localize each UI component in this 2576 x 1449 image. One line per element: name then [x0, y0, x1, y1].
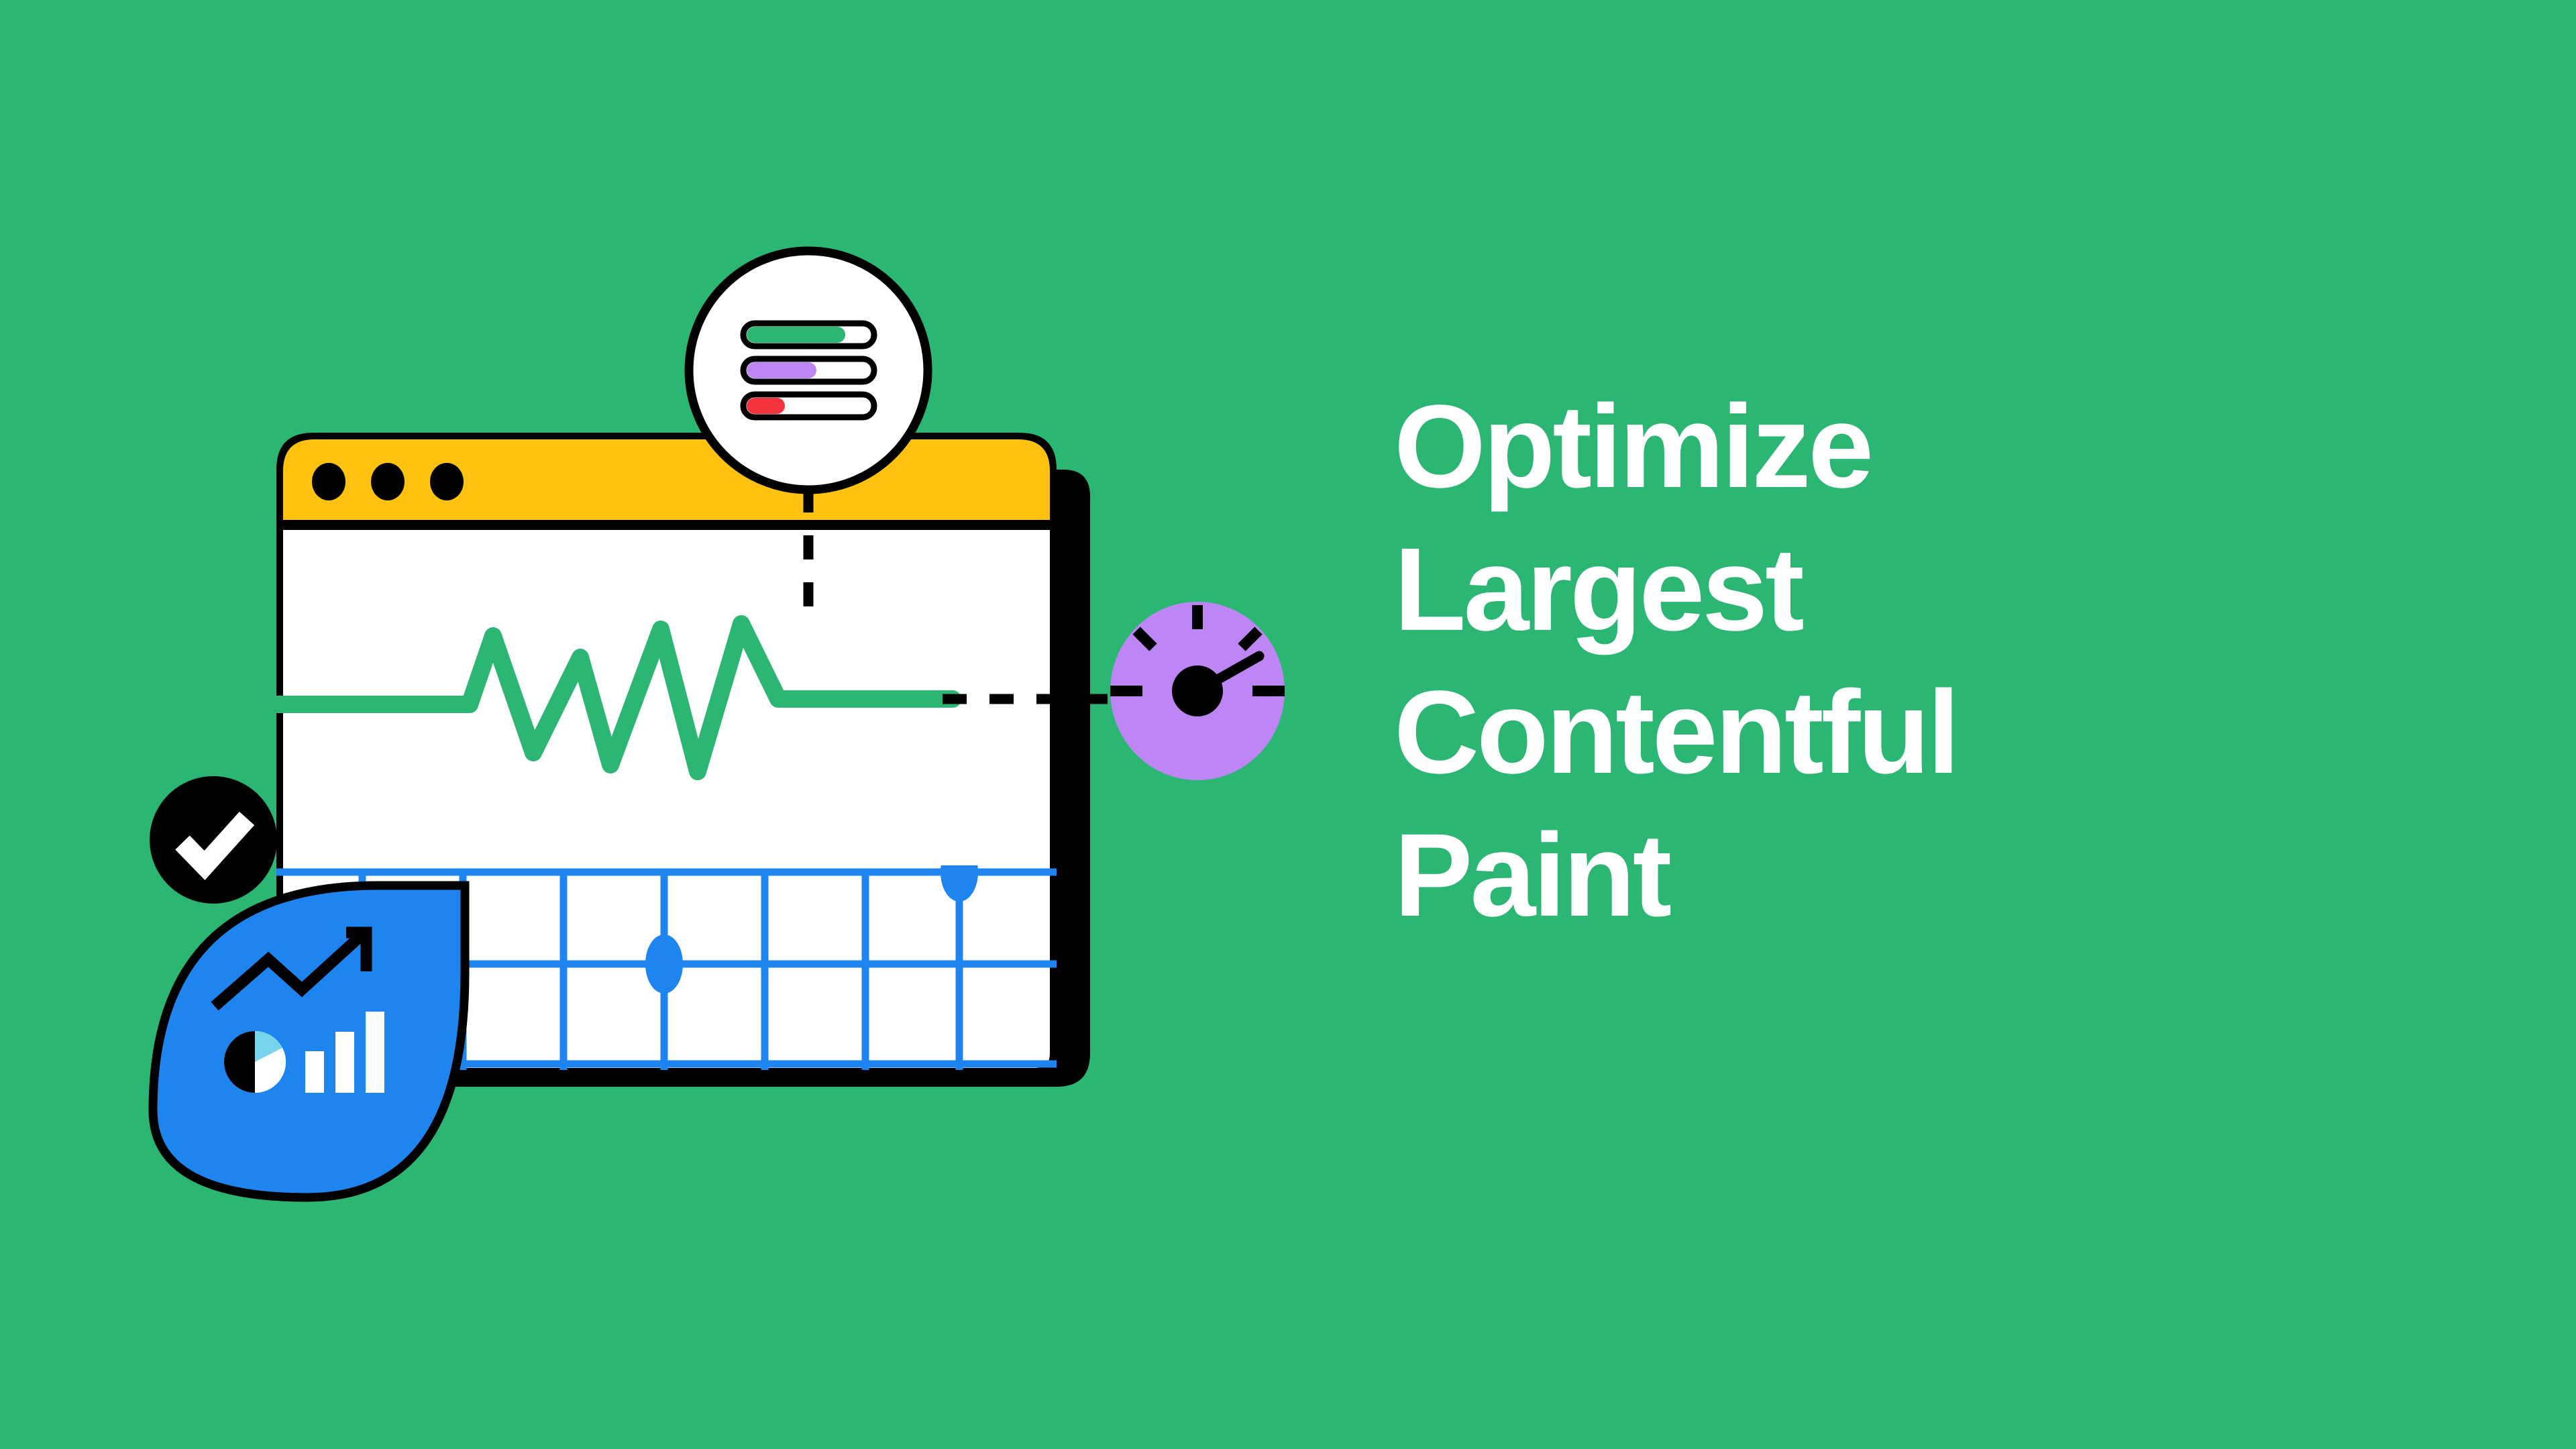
speed-gauge[interactable] [1110, 602, 1285, 780]
headline-line-4: Paint [1394, 804, 2333, 947]
traffic-light-dot-1[interactable] [312, 463, 345, 500]
illustration-canvas: Optimize Largest Contentful Paint [0, 0, 2576, 1449]
score-bar-purple-fill [747, 362, 816, 378]
score-badge-circle[interactable] [689, 251, 928, 490]
headline-line-1: Optimize [1394, 376, 2333, 519]
traffic-light-dot-2[interactable] [371, 463, 405, 500]
gauge-hub [1172, 665, 1223, 716]
analytics-badge-shape [153, 885, 465, 1197]
headline-line-2: Largest [1394, 519, 2333, 661]
analytics-badge[interactable] [153, 885, 465, 1197]
score-bar-green-fill [747, 327, 845, 343]
traffic-light-dot-3[interactable] [430, 463, 464, 500]
pie-chart-icon [224, 1031, 286, 1093]
page-title: Optimize Largest Contentful Paint [1394, 376, 2333, 947]
check-badge-face [150, 776, 277, 904]
check-badge[interactable] [150, 776, 277, 904]
headline-line-3: Contentful [1394, 661, 2333, 804]
grid-dot-1[interactable] [645, 934, 683, 994]
score-bar-red-fill [747, 398, 785, 414]
